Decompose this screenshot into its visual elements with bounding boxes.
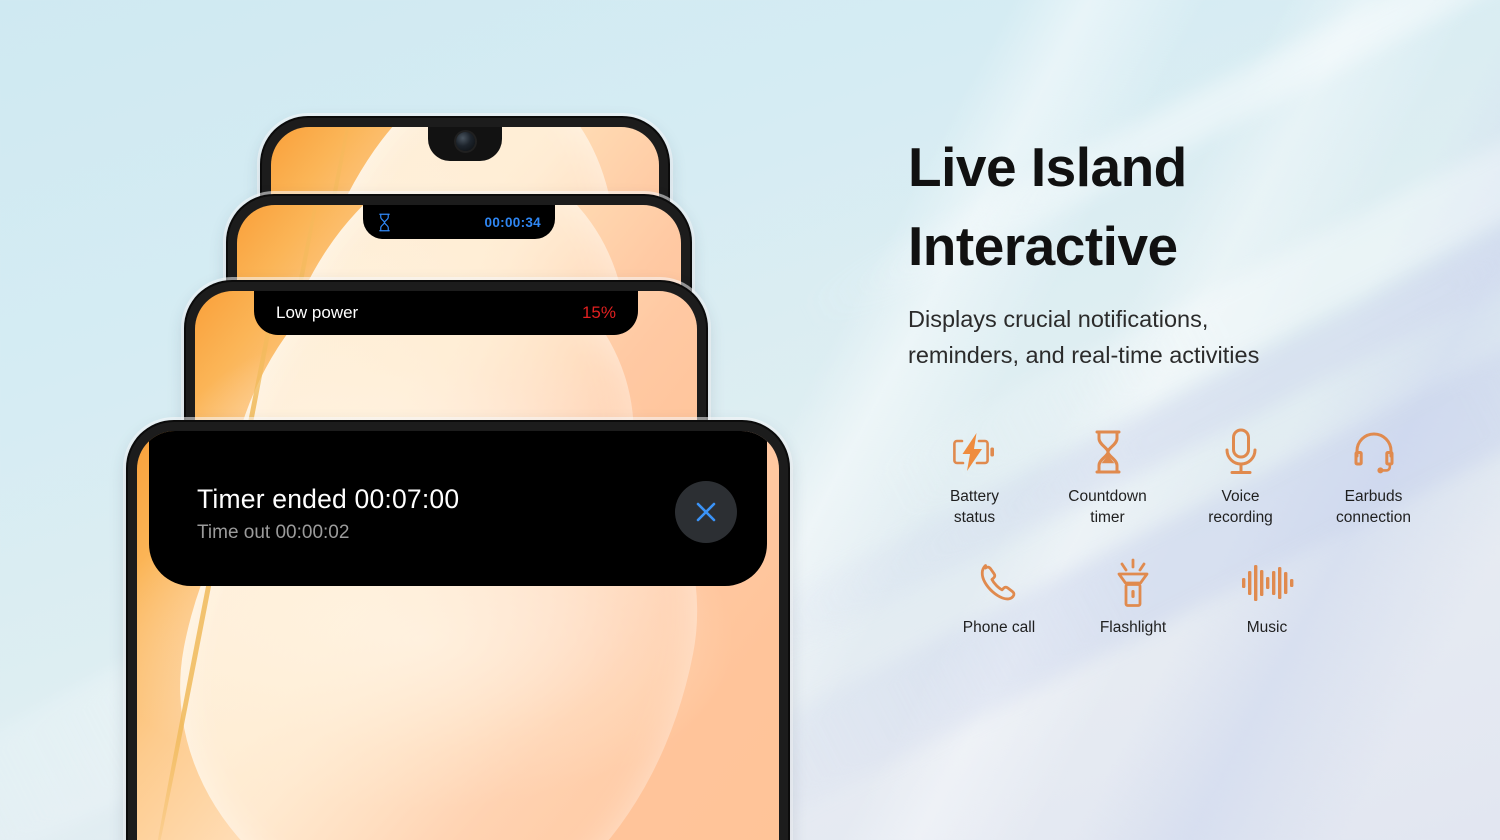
headset-icon	[1349, 428, 1399, 476]
feature-earbuds-connection[interactable]: Earbuds connection	[1307, 426, 1440, 529]
feature-label-line-1: Voice	[1222, 488, 1260, 505]
feature-label-line-2: status	[954, 509, 995, 526]
headline-line-1: Live Island	[908, 136, 1187, 198]
feature-voice-recording[interactable]: Voice recording	[1174, 426, 1307, 529]
flashlight-icon	[1111, 558, 1155, 608]
subtitle-line-1: Displays crucial notifications,	[908, 306, 1208, 332]
close-icon	[691, 497, 721, 527]
hourglass-icon	[377, 213, 392, 232]
timer-ended-subtitle: Time out 00:00:02	[197, 522, 459, 544]
feature-icon-wrap	[976, 557, 1022, 609]
feature-label-line-2: connection	[1336, 509, 1411, 526]
headline-line-2: Interactive	[908, 215, 1178, 277]
feature-icon-wrap	[949, 426, 1001, 478]
feature-icon-wrap	[1088, 426, 1128, 478]
microphone-icon	[1221, 427, 1261, 477]
feature-label: Battery status	[950, 487, 999, 529]
feature-label-line-1: Flashlight	[1100, 619, 1166, 636]
phone-stack: 00:00:34 Low power 15% Timer ended 00:07…	[0, 0, 820, 840]
feature-icon-wrap	[1111, 557, 1155, 609]
feature-label-line-2: timer	[1090, 509, 1124, 526]
feature-label: Phone call	[963, 618, 1035, 639]
battery-charging-icon	[949, 429, 1001, 475]
feature-row-2: Phone call Flashlight	[908, 557, 1468, 639]
feature-icon-wrap	[1349, 426, 1399, 478]
phone-timer-ended: Timer ended 00:07:00 Time out 00:00:02	[128, 422, 788, 840]
feature-label: Voice recording	[1208, 487, 1273, 529]
feature-battery-status[interactable]: Battery status	[908, 426, 1041, 529]
feature-music[interactable]: Music	[1200, 557, 1334, 639]
phone-handset-icon	[976, 560, 1022, 606]
feature-countdown-timer[interactable]: Countdown timer	[1041, 426, 1174, 529]
countdown-value: 00:00:34	[485, 215, 541, 230]
feature-label: Flashlight	[1100, 618, 1166, 639]
feature-label-line-1: Battery	[950, 488, 999, 505]
feature-flashlight[interactable]: Flashlight	[1066, 557, 1200, 639]
feature-icon-wrap	[1221, 426, 1261, 478]
feature-grid: Battery status Countdown timer	[908, 426, 1468, 639]
phone-screen: Timer ended 00:07:00 Time out 00:00:02	[137, 431, 779, 840]
live-island-countdown[interactable]: 00:00:34	[363, 205, 555, 239]
timer-text-group: Timer ended 00:07:00 Time out 00:00:02	[197, 474, 459, 544]
timer-ended-title: Timer ended 00:07:00	[197, 484, 459, 515]
feature-label: Music	[1247, 618, 1287, 639]
feature-label: Countdown timer	[1068, 487, 1146, 529]
feature-label-line-1: Countdown	[1068, 488, 1146, 505]
close-button[interactable]	[675, 481, 737, 543]
hourglass-icon	[1088, 428, 1128, 476]
music-waveform-icon	[1240, 561, 1294, 605]
feature-label: Earbuds connection	[1336, 487, 1411, 529]
page-title: Live Island Interactive	[908, 128, 1468, 286]
info-panel: Live Island Interactive Displays crucial…	[908, 0, 1468, 840]
feature-label-line-1: Music	[1247, 619, 1287, 636]
battery-percent-value: 15%	[582, 303, 616, 323]
subtitle-line-2: reminders, and real-time activities	[908, 342, 1259, 368]
feature-label-line-1: Earbuds	[1345, 488, 1403, 505]
feature-row-1: Battery status Countdown timer	[908, 426, 1468, 529]
feature-icon-wrap	[1240, 557, 1294, 609]
live-island-timer-ended[interactable]: Timer ended 00:07:00 Time out 00:00:02	[149, 431, 767, 586]
front-camera-icon	[456, 132, 475, 151]
feature-label-line-2: recording	[1208, 509, 1273, 526]
feature-phone-call[interactable]: Phone call	[932, 557, 1066, 639]
feature-label-line-1: Phone call	[963, 619, 1035, 636]
display-notch	[428, 127, 502, 161]
page-subtitle: Displays crucial notifications, reminder…	[908, 302, 1468, 373]
live-island-low-power[interactable]: Low power 15%	[254, 291, 638, 335]
low-power-label: Low power	[276, 303, 358, 323]
